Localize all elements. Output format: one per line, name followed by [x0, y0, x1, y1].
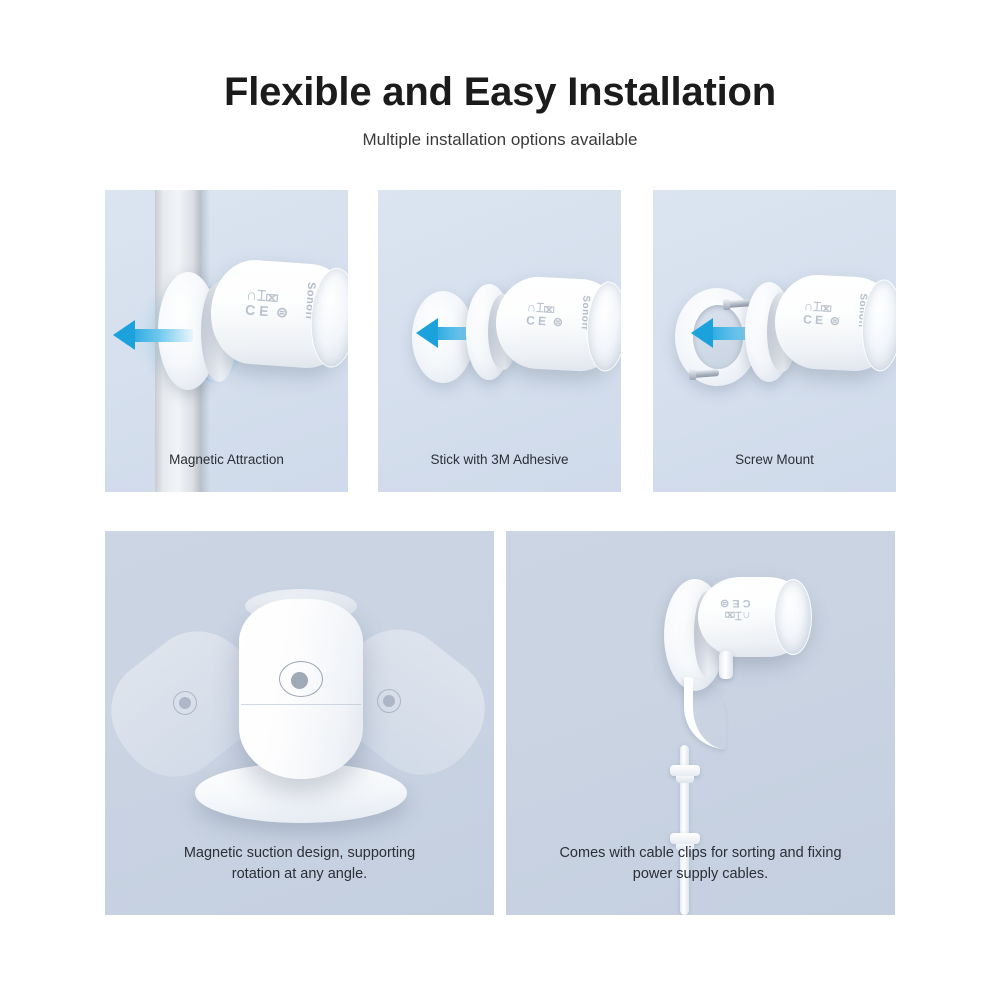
ghost-sensor-right	[377, 689, 401, 713]
product-feature-page: Flexible and Easy Installation Multiple …	[0, 0, 1000, 1000]
panel-screw-mount: Sonoff ∩⌶⌧C E ⊜ Screw Mount	[653, 190, 896, 492]
cable-clip-top	[670, 765, 700, 776]
camera-barrel: Sonoff ∩⌶⌧C E ⊜	[208, 257, 348, 371]
screw-mount-illustration: Sonoff ∩⌶⌧C E ⊜	[653, 190, 896, 492]
certification-marks: ∩⌶⌧C E ⊜	[803, 299, 841, 327]
panel-3m-adhesive: Sonoff ∩⌶⌧C E ⊜ Stick with 3M Adhesive	[378, 190, 621, 492]
camera-lens	[774, 579, 812, 655]
magnet-arrow-icon	[113, 320, 193, 350]
certification-marks: ∩⌶⌧C E ⊜	[526, 300, 564, 328]
certification-marks: ∩⌶⌧C E ⊜	[720, 597, 751, 622]
panel-cable-clips: ∩⌶⌧C E ⊜ Comes with cable clips for sort…	[506, 531, 895, 915]
camera-barrel: Sonoff ∩⌶⌧C E ⊜	[494, 275, 621, 373]
panel-magnetic-attraction: Sonoff ∩⌶⌧C E ⊜ Magnetic Attraction	[105, 190, 348, 492]
caption-line-1: Magnetic suction design, supporting	[115, 843, 484, 864]
ghost-sensor-left	[173, 691, 197, 715]
panel-caption: Stick with 3M Adhesive	[378, 450, 621, 470]
panel-magnetic-rotation: Magnetic suction design, supporting rota…	[105, 531, 494, 915]
magnetic-attraction-illustration: Sonoff ∩⌶⌧C E ⊜	[105, 190, 348, 492]
camera-barrel: Sonoff ∩⌶⌧C E ⊜	[773, 273, 896, 373]
caption-line-1: Comes with cable clips for sorting and f…	[516, 843, 885, 864]
cable-bend	[684, 677, 726, 749]
adhesive-illustration: Sonoff ∩⌶⌧C E ⊜	[378, 190, 621, 492]
caption-line-2: power supply cables.	[516, 864, 885, 885]
camera-lens	[585, 281, 621, 373]
body-seam	[241, 704, 361, 705]
camera-body	[239, 599, 363, 779]
panel-caption: Magnetic suction design, supporting rota…	[105, 843, 494, 885]
usb-connector	[719, 651, 733, 679]
panel-caption: Magnetic Attraction	[105, 450, 348, 470]
panel-caption: Comes with cable clips for sorting and f…	[506, 843, 895, 885]
camera-barrel: ∩⌶⌧C E ⊜	[698, 577, 810, 657]
header: Flexible and Easy Installation Multiple …	[0, 70, 1000, 150]
panel-caption: Screw Mount	[653, 450, 896, 470]
page-title: Flexible and Easy Installation	[0, 70, 1000, 114]
certification-marks: ∩⌶⌧C E ⊜	[245, 288, 290, 321]
page-subtitle: Multiple installation options available	[0, 130, 1000, 150]
caption-line-2: rotation at any angle.	[115, 864, 484, 885]
sensor-dot	[291, 672, 308, 689]
